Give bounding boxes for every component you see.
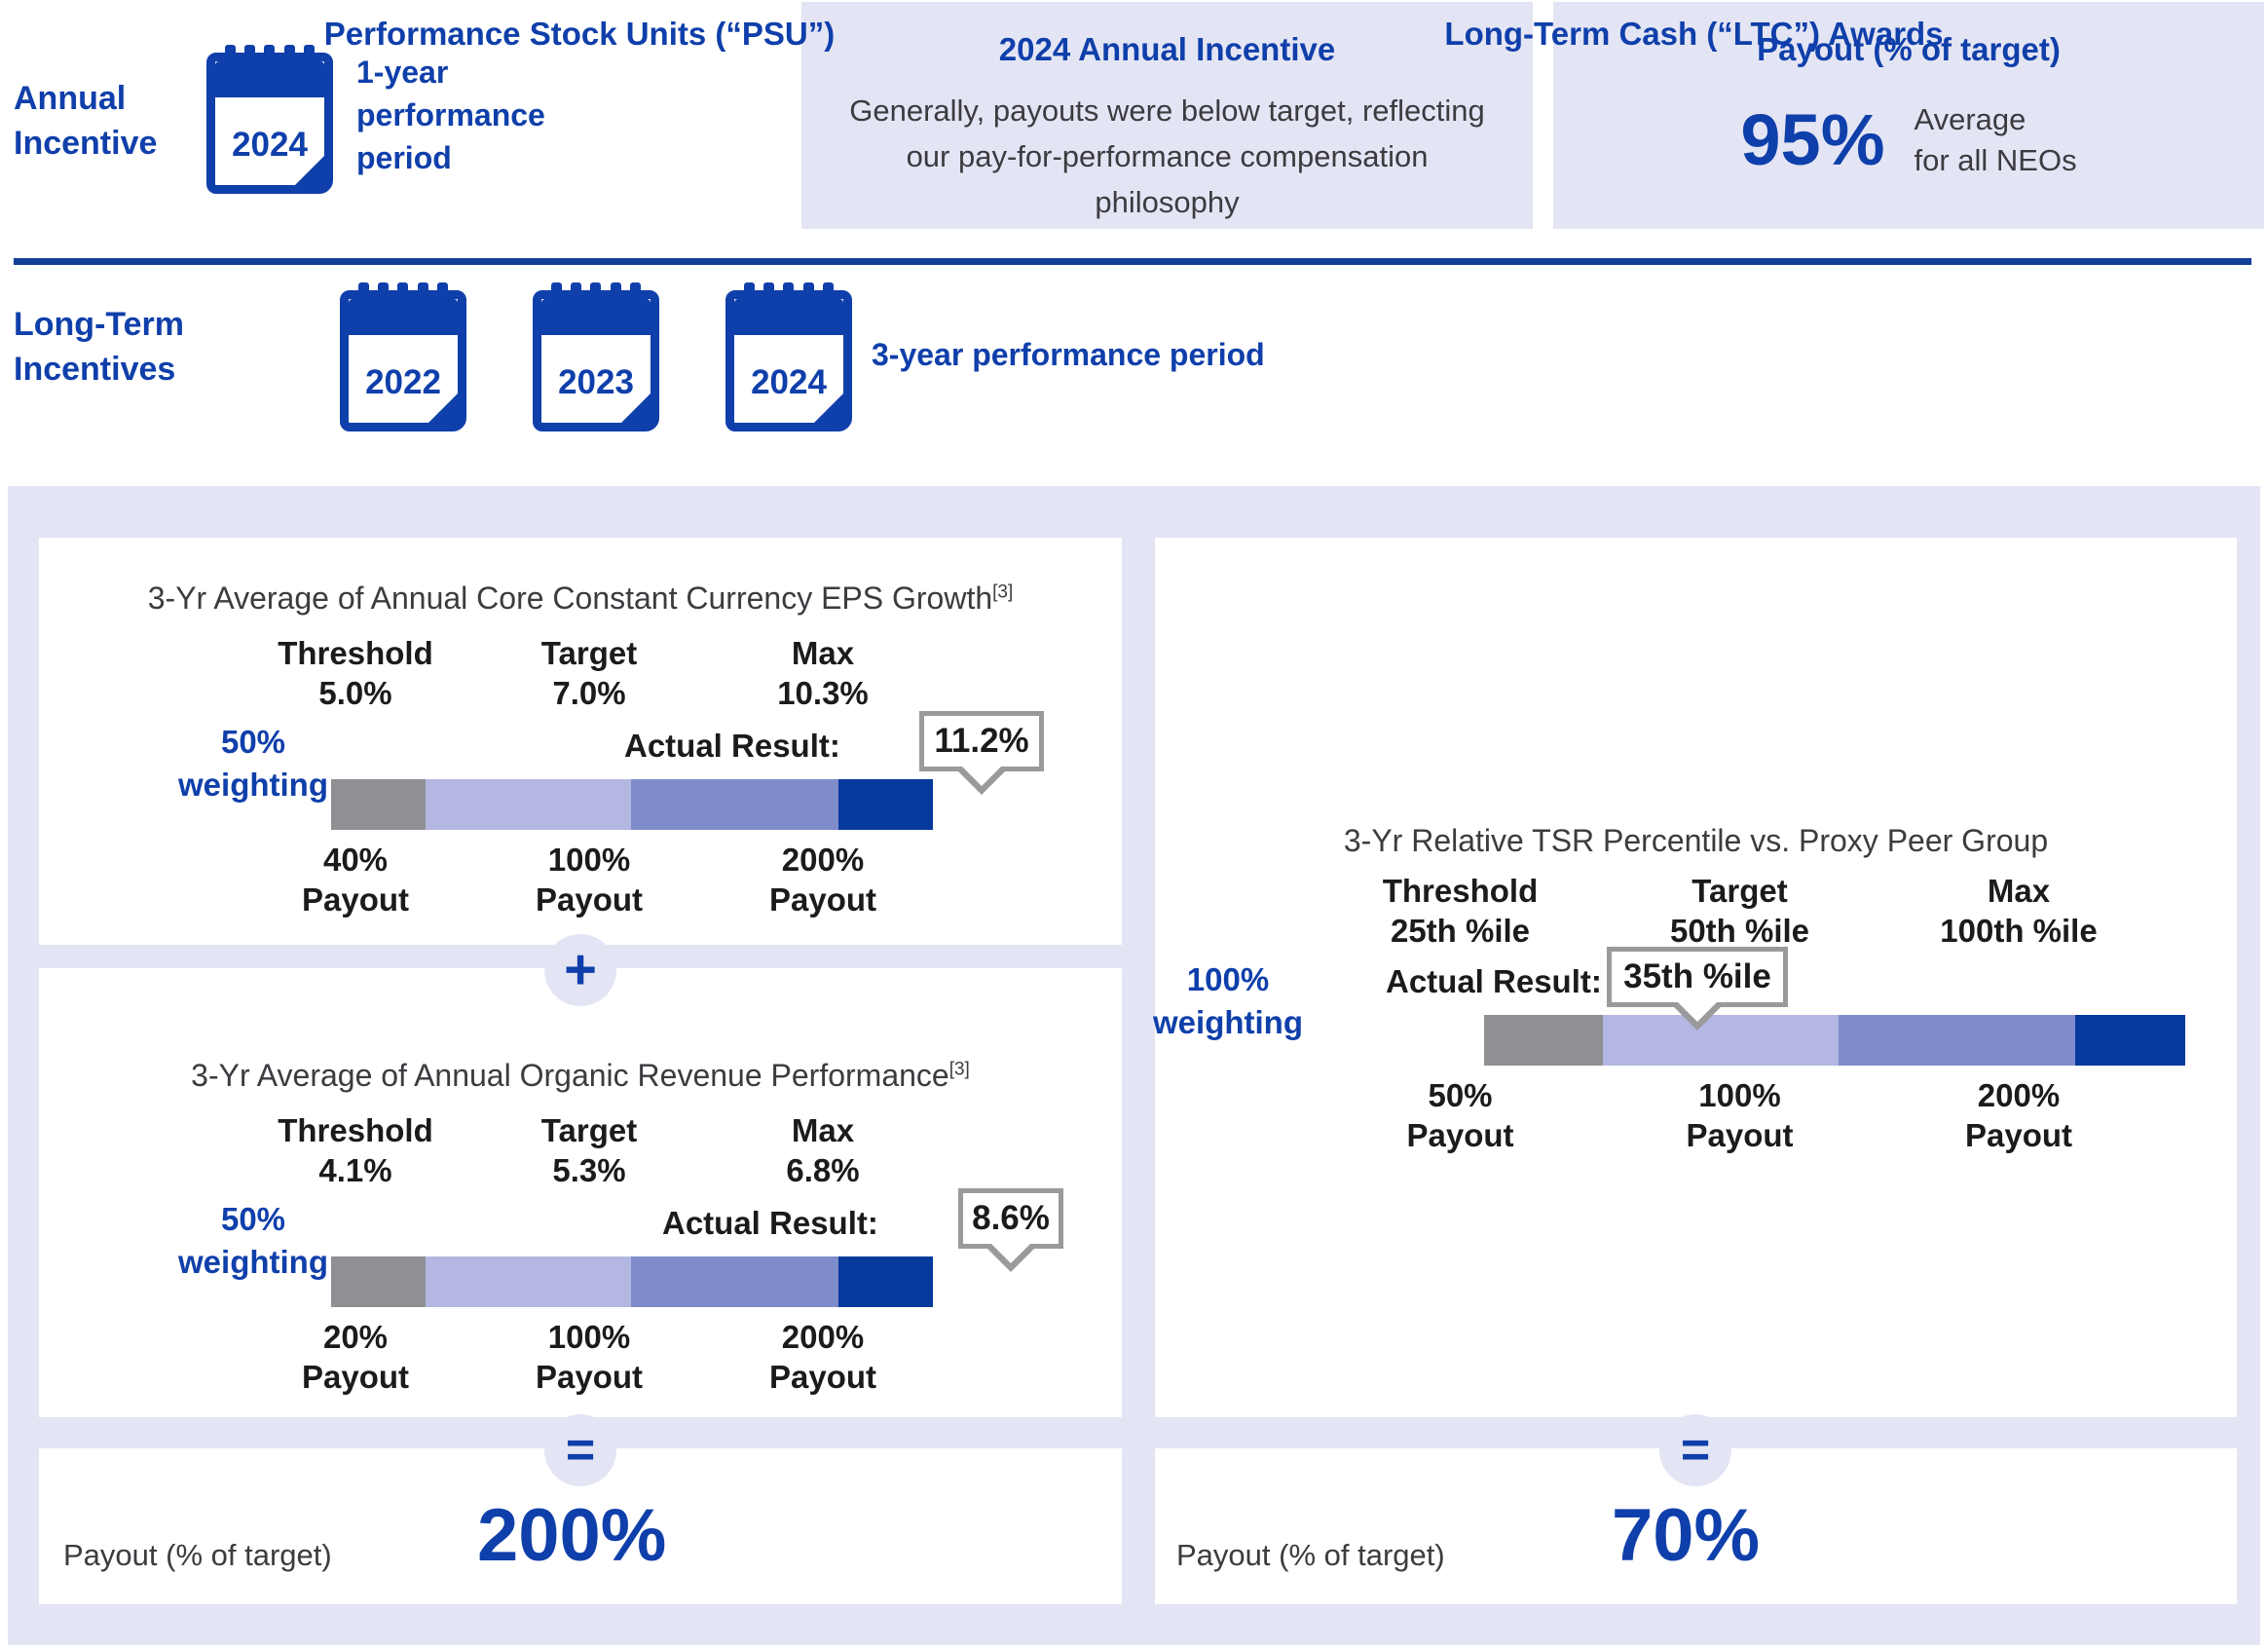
scale-value-target: 5.3% <box>472 1150 706 1190</box>
psu-metric-2-weighting: 50% weighting <box>151 1198 355 1284</box>
ltc-metric-1-payout-row: 50% Payout 100% Payout 200% Payout <box>1320 1075 2158 1155</box>
ltc-metric-1-scale-headers: Threshold 25th %ile Target 50th %ile Max… <box>1320 871 2158 951</box>
ltc-total-value: 70% <box>1612 1497 1760 1575</box>
psu-metric-1-actual-value: 11.2% <box>934 722 1028 761</box>
plus-operator-icon: + <box>544 934 616 1006</box>
bar-segment-below-threshold <box>331 779 426 830</box>
psu-metric-1-actual-callout: 11.2% <box>919 711 1044 771</box>
psu-metric-2-actual-callout: 8.6% <box>958 1188 1063 1249</box>
callout-arrow-inner <box>1677 1001 1718 1022</box>
calendar-icon-2022: 2022 <box>340 282 466 431</box>
payout-target: 100% Payout <box>472 1317 706 1397</box>
psu-total-value: 200% <box>477 1497 666 1575</box>
calendar-year-label: 2024 <box>215 126 324 165</box>
ltc-metric-1: 3-Yr Relative TSR Percentile vs. Proxy P… <box>1155 538 2237 1417</box>
ltc-metric-1-actual-value: 35th %ile <box>1623 957 1771 996</box>
ltc-panel-heading: Long-Term Cash (“LTC”) Awards <box>1151 16 2237 53</box>
psu-metric-1-title-text: 3-Yr Average of Annual Core Constant Cur… <box>148 581 992 616</box>
annual-incentive-label: Annual Incentive <box>14 76 208 166</box>
psu-metric-1-scale-headers: Threshold 5.0% Target 7.0% Max 10.3% <box>239 633 940 713</box>
scale-value-threshold: 25th %ile <box>1320 911 1600 951</box>
equals-operator-icon-psu: = <box>544 1414 616 1486</box>
scale-header-threshold: Threshold <box>239 1110 472 1150</box>
bar-segment-threshold <box>426 779 631 830</box>
psu-total-label: Payout (% of target) <box>63 1536 332 1575</box>
scale-value-target: 50th %ile <box>1600 911 1879 951</box>
payout-target: 100% Payout <box>472 840 706 919</box>
callout-arrow-inner <box>961 766 1002 786</box>
psu-metric-2-scale-headers: Threshold 4.1% Target 5.3% Max 6.8% <box>239 1110 940 1190</box>
psu-metric-1: 3-Yr Average of Annual Core Constant Cur… <box>39 538 1122 945</box>
ltc-metric-1-weighting: 100% weighting <box>1087 958 1369 1044</box>
psu-metric-2-footnote: [3] <box>949 1059 970 1079</box>
section-divider <box>14 258 2251 265</box>
psu-metric-1-actual-label: Actual Result: <box>624 726 840 766</box>
scale-header-threshold: Threshold <box>239 633 472 673</box>
payout-target: 100% Payout <box>1600 1075 1879 1155</box>
scale-value-max: 10.3% <box>706 673 940 713</box>
psu-metric-2-actual-value: 8.6% <box>972 1199 1050 1238</box>
ltc-metric-1-bar <box>1484 1015 2185 1066</box>
bar-segment-max <box>838 1256 933 1307</box>
bar-segment-below-threshold <box>331 1256 426 1307</box>
psu-metric-1-weighting: 50% weighting <box>151 721 355 806</box>
scale-value-threshold: 5.0% <box>239 673 472 713</box>
bar-segment-threshold <box>426 1256 631 1307</box>
equals-operator-icon-ltc: = <box>1659 1414 1731 1486</box>
psu-metric-2-bar <box>331 1256 933 1307</box>
psu-panel-heading: Performance Stock Units (“PSU”) <box>35 16 1124 53</box>
payout-max: 200% Payout <box>706 1317 940 1397</box>
calendar-icon-2024-annual: 2024 <box>206 45 333 194</box>
one-year-period-text: 1-year performance period <box>356 51 649 179</box>
psu-metric-2-title: 3-Yr Average of Annual Organic Revenue P… <box>39 1058 1122 1094</box>
scale-header-target: Target <box>472 1110 706 1150</box>
scale-header-max: Max <box>706 633 940 673</box>
scale-header-target: Target <box>1600 871 1879 911</box>
scale-value-max: 100th %ile <box>1879 911 2158 951</box>
psu-metric-2: 3-Yr Average of Annual Organic Revenue P… <box>39 968 1122 1417</box>
calendar-year-label: 2024 <box>734 363 843 402</box>
long-term-incentives-label: Long-Term Incentives <box>14 302 228 392</box>
payout-card-note: Average for all NEOs <box>1915 99 2077 181</box>
payout-threshold: 20% Payout <box>239 1317 472 1397</box>
bar-segment-max <box>838 779 933 830</box>
ltc-metric-1-title: 3-Yr Relative TSR Percentile vs. Proxy P… <box>1155 823 2237 859</box>
ltc-metric-1-actual-callout: 35th %ile <box>1607 947 1788 1007</box>
annual-incentive-card-subtitle: Generally, payouts were below target, re… <box>840 88 1494 225</box>
scale-header-target: Target <box>472 633 706 673</box>
scale-header-max: Max <box>706 1110 940 1150</box>
payout-max: 200% Payout <box>706 840 940 919</box>
scale-value-target: 7.0% <box>472 673 706 713</box>
calendar-icon-2023: 2023 <box>533 282 659 431</box>
ltc-metric-1-title-text: 3-Yr Relative TSR Percentile vs. Proxy P… <box>1344 823 2048 858</box>
ltc-metric-1-actual-label: Actual Result: <box>1386 961 1602 1001</box>
bar-segment-target <box>631 1256 838 1307</box>
bar-segment-target <box>1839 1015 2075 1066</box>
psu-metric-1-footnote: [3] <box>992 581 1013 602</box>
psu-metric-2-title-text: 3-Yr Average of Annual Organic Revenue P… <box>191 1058 949 1093</box>
scale-header-threshold: Threshold <box>1320 871 1600 911</box>
calendar-year-label: 2023 <box>541 363 651 402</box>
psu-metric-1-bar <box>331 779 933 830</box>
payout-max: 200% Payout <box>1879 1075 2158 1155</box>
bar-segment-max <box>2075 1015 2185 1066</box>
callout-arrow-inner <box>990 1243 1031 1263</box>
bar-segment-below-threshold <box>1484 1015 1603 1066</box>
payout-threshold: 40% Payout <box>239 840 472 919</box>
psu-metric-1-payout-row: 40% Payout 100% Payout 200% Payout <box>239 840 940 919</box>
bar-segment-target <box>631 779 838 830</box>
payout-card-value: 95% <box>1740 104 1884 176</box>
payout-threshold: 50% Payout <box>1320 1075 1600 1155</box>
psu-metric-2-actual-label: Actual Result: <box>662 1203 878 1243</box>
psu-metric-1-title: 3-Yr Average of Annual Core Constant Cur… <box>39 581 1122 617</box>
ltc-total-label: Payout (% of target) <box>1176 1536 1445 1575</box>
calendar-year-label: 2022 <box>349 363 458 402</box>
calendar-icon-2024-lti: 2024 <box>725 282 852 431</box>
payout-card-row: 95% Average for all NEOs <box>1553 99 2264 181</box>
three-year-period-text: 3-year performance period <box>872 333 1378 376</box>
scale-value-max: 6.8% <box>706 1150 940 1190</box>
scale-header-max: Max <box>1879 871 2158 911</box>
scale-value-threshold: 4.1% <box>239 1150 472 1190</box>
psu-metric-2-payout-row: 20% Payout 100% Payout 200% Payout <box>239 1317 940 1397</box>
